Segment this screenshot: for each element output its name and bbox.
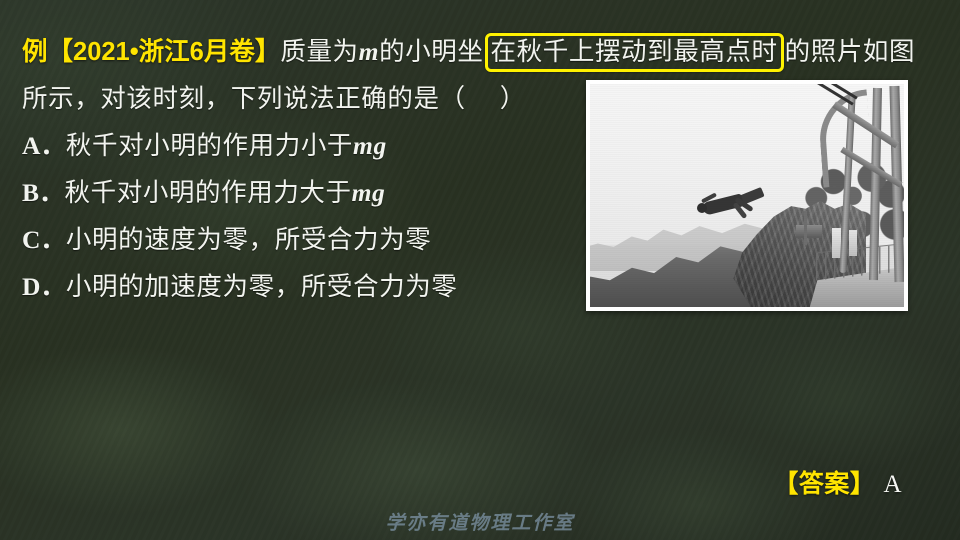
- question-block: 例【2021•浙江6月卷】质量为m的小明坐在秋千上摆动到最高点时的照片如图 所示…: [22, 28, 938, 310]
- option-a-text: 秋千对小明的作用力小于: [66, 131, 353, 160]
- stem-line2-end: ）: [500, 84, 526, 113]
- option-d-letter: D．: [22, 272, 66, 301]
- slide-canvas: 例【2021•浙江6月卷】质量为m的小明坐在秋千上摆动到最高点时的照片如图 所示…: [0, 0, 960, 540]
- option-c-letter: C．: [22, 225, 66, 254]
- option-c[interactable]: C．小明的速度为零，所受合力为零: [22, 216, 938, 263]
- stem-part-2: 的小明坐: [379, 37, 483, 66]
- option-b-variable: mg: [352, 178, 386, 207]
- question-source-tag: 【2021•浙江6月卷】: [48, 38, 281, 66]
- question-line-1: 例【2021•浙江6月卷】质量为m的小明坐在秋千上摆动到最高点时的照片如图: [22, 28, 938, 75]
- option-d[interactable]: D．小明的加速度为零，所受合力为零: [22, 263, 938, 310]
- option-b-text: 秋千对小明的作用力大于: [65, 178, 352, 207]
- stem-part-1: 质量为: [280, 37, 358, 66]
- stem-variable-m: m: [359, 37, 379, 66]
- option-d-text: 小明的加速度为零，所受合力为零: [66, 272, 458, 301]
- option-c-text: 小明的速度为零，所受合力为零: [66, 225, 431, 254]
- question-line-2: 所示，对该时刻，下列说法正确的是（）: [22, 75, 938, 122]
- stem-line2: 所示，对该时刻，下列说法正确的是（: [22, 84, 466, 113]
- option-a-variable: mg: [353, 131, 387, 160]
- option-a[interactable]: A．秋千对小明的作用力小于mg: [22, 122, 938, 169]
- option-b[interactable]: B．秋千对小明的作用力大于mg: [22, 169, 938, 216]
- option-a-letter: A．: [22, 131, 66, 160]
- answer-tag: 【答案】: [773, 470, 875, 498]
- option-b-letter: B．: [22, 178, 65, 207]
- watermark-text: 学亦有道物理工作室: [0, 508, 960, 535]
- answer-line: 【答案】A: [773, 468, 902, 501]
- question-label: 例: [22, 38, 48, 66]
- highlighted-phrase: 在秋千上摆动到最高点时: [485, 33, 784, 72]
- stem-part-3: 的照片如图: [785, 37, 916, 66]
- answer-value: A: [883, 471, 902, 498]
